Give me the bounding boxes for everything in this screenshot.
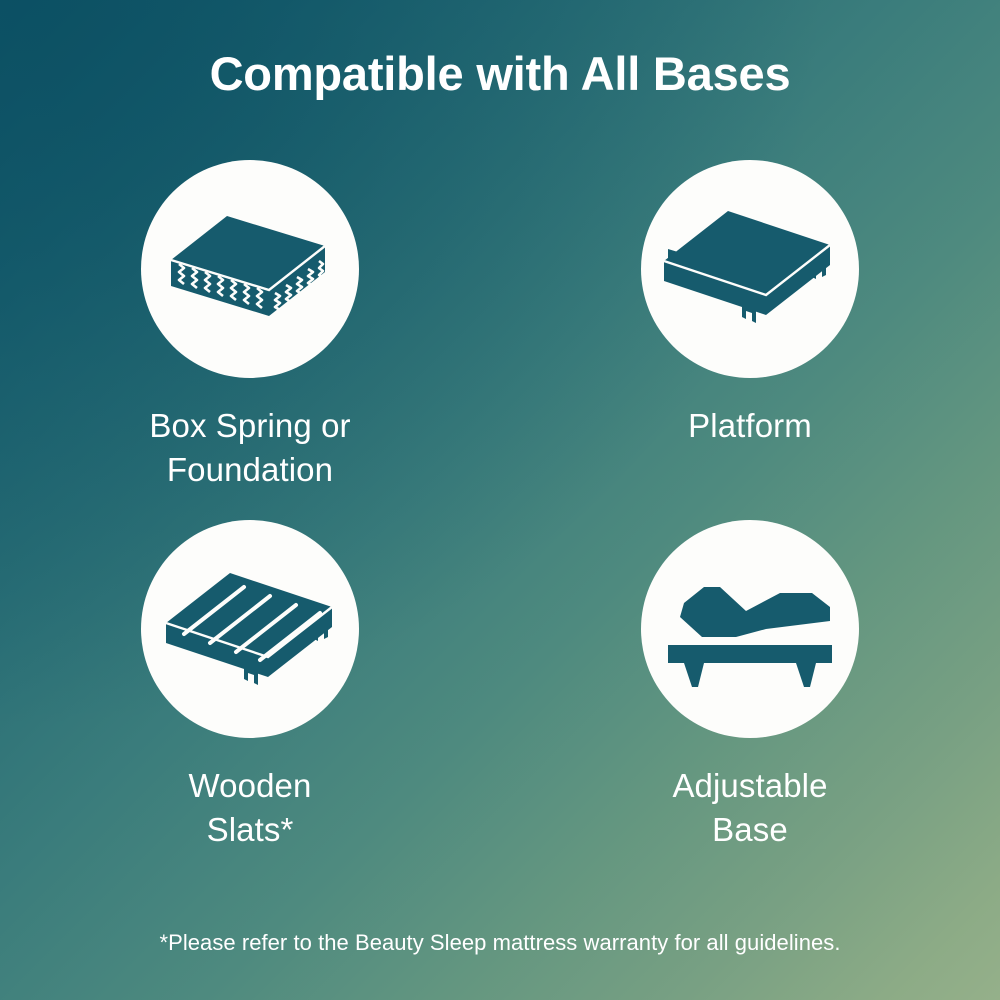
base-label-box-spring: Box Spring or Foundation — [149, 404, 350, 492]
icon-circle-box-spring — [141, 160, 359, 378]
icon-circle-adjustable-base — [641, 520, 859, 738]
compatible-bases-poster: Compatible with All Bases — [0, 0, 1000, 1000]
page-title: Compatible with All Bases — [0, 48, 1000, 100]
base-label-platform: Platform — [688, 404, 812, 448]
base-card-wooden-slats[interactable]: Wooden Slats* — [65, 520, 435, 852]
base-card-adjustable-base[interactable]: Adjustable Base — [565, 520, 935, 852]
base-label-adjustable-base: Adjustable Base — [672, 764, 827, 852]
icon-circle-platform — [641, 160, 859, 378]
base-label-wooden-slats: Wooden Slats* — [189, 764, 312, 852]
adjustable-base-icon — [662, 569, 838, 689]
base-card-box-spring[interactable]: Box Spring or Foundation — [65, 160, 435, 492]
bases-grid: Box Spring or Foundation — [0, 160, 1000, 852]
wooden-slats-icon — [162, 565, 338, 693]
platform-base-icon — [662, 205, 838, 333]
base-card-platform[interactable]: Platform — [565, 160, 935, 492]
box-spring-foundation-icon — [165, 204, 335, 334]
footnote-text: *Please refer to the Beauty Sleep mattre… — [0, 930, 1000, 956]
icon-circle-wooden-slats — [141, 520, 359, 738]
